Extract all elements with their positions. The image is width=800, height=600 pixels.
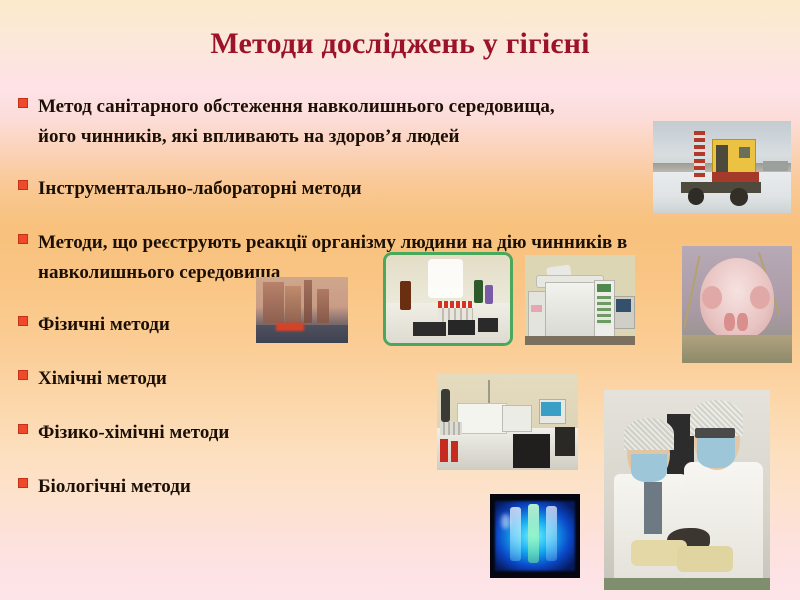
bullet-square-icon — [18, 180, 28, 190]
bullet-square-icon — [18, 478, 28, 488]
bullet-square-icon — [18, 234, 28, 244]
list-item: Інструментально-лабораторні методи — [18, 174, 718, 204]
fluorescent-blue-test-tubes-photo — [490, 494, 580, 578]
scientists-with-lab-animal-photo — [604, 390, 770, 590]
gas-chromatograph-photo — [525, 255, 635, 345]
list-item: Метод санітарного обстеження навколишньо… — [18, 92, 718, 152]
bullet-square-icon — [18, 424, 28, 434]
bullet-square-icon — [18, 370, 28, 380]
slide-title: Методи досліджень у гігієні — [0, 25, 800, 63]
blood-sample-test-tubes-photo — [383, 252, 513, 346]
bullet-square-icon — [18, 98, 28, 108]
drilling-truck-in-snow-photo — [653, 121, 791, 213]
laboratory-rodent-photo — [682, 246, 792, 363]
laboratory-room-photo — [437, 374, 578, 470]
list-item-label: Інструментально-лабораторні методи — [38, 174, 718, 204]
industrial-plant-photo — [256, 277, 348, 343]
bullet-square-icon — [18, 316, 28, 326]
list-item-label: Метод санітарного обстеження навколишньо… — [38, 92, 718, 152]
presentation-slide: Методи досліджень у гігієні Метод саніта… — [0, 0, 800, 600]
